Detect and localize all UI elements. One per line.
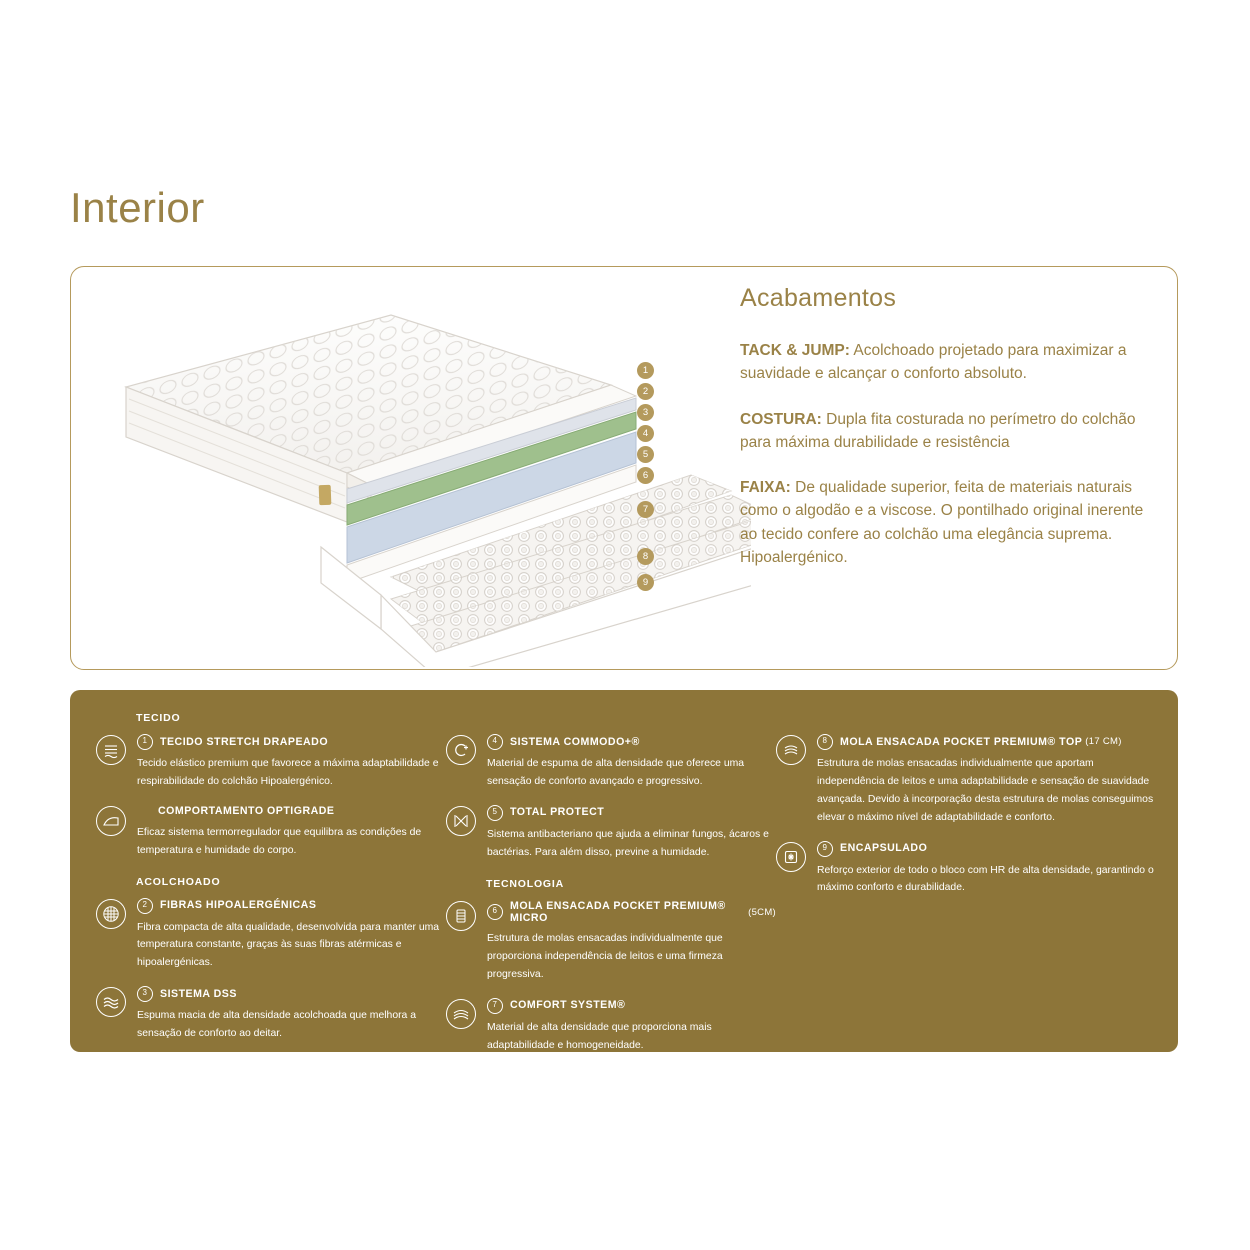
legend-item-commodo: 4 SISTEMA COMMODO+® Material de espuma d…	[446, 734, 776, 791]
legend-title-8: MOLA ENSACADA POCKET PREMIUM® TOP	[840, 736, 1082, 749]
legend-desc-9: Reforço exterior de todo o bloco com HR …	[817, 862, 1158, 898]
legend-item-encapsulado: 9 ENCAPSULADO Reforço exterior de todo o…	[776, 841, 1158, 898]
legend-panel: TECIDO 1 TECIDO STRETCH DRAPEADO Te	[70, 690, 1178, 1052]
legend-desc-6: Estrutura de molas ensacadas individualm…	[487, 930, 776, 984]
commodo-c-icon	[446, 735, 476, 765]
legend-desc-2: Fibra compacta de alta qualidade, desenv…	[137, 919, 446, 973]
legend-item-comfort-system: 7 COMFORT SYSTEM® Material de alta densi…	[446, 998, 776, 1055]
legend-desc-7: Material de alta densidade que proporcio…	[487, 1019, 776, 1055]
pocket-spring-micro-icon	[446, 901, 476, 931]
legend-title-3: SISTEMA DSS	[160, 988, 237, 1001]
legend-title-1: TECIDO STRETCH DRAPEADO	[160, 736, 328, 749]
acabamento-tack-jump: TACK & JUMP: Acolchoado projetado para m…	[740, 339, 1160, 386]
legend-number-2: 2	[137, 898, 153, 914]
legend-item-pocket-top: 8 MOLA ENSACADA POCKET PREMIUM® TOP (17 …	[776, 734, 1158, 827]
pocket-spring-top-icon	[776, 735, 806, 765]
legend-number-9: 9	[817, 841, 833, 857]
legend-title-9: ENCAPSULADO	[840, 842, 927, 855]
comfort-system-icon	[446, 999, 476, 1029]
legend-group-label-tecido: TECIDO	[136, 712, 446, 724]
legend-number-5: 5	[487, 805, 503, 821]
diagram-number-8: 8	[637, 548, 654, 565]
legend-desc-4: Material de espuma de alta densidade que…	[487, 755, 776, 791]
legend-title-6: MOLA ENSACADA POCKET PREMIUM® MICRO	[510, 900, 745, 925]
page-title: Interior	[70, 184, 205, 232]
legend-title-5: TOTAL PROTECT	[510, 806, 604, 819]
acabamento-faixa-label: FAIXA:	[740, 479, 791, 496]
page-root: Interior	[0, 0, 1250, 1250]
legend-group-label-tecnologia: TECNOLOGIA	[486, 878, 776, 890]
legend-item-tecido-stretch: 1 TECIDO STRETCH DRAPEADO Tecido elástic…	[96, 734, 446, 791]
diagram-number-9: 9	[637, 574, 654, 591]
legend-column-1: TECIDO 1 TECIDO STRETCH DRAPEADO Te	[96, 712, 446, 1068]
acabamentos-section: Acabamentos TACK & JUMP: Acolchoado proj…	[740, 284, 1160, 591]
legend-number-1: 1	[137, 734, 153, 750]
waves-icon	[96, 987, 126, 1017]
legend-desc-3: Espuma macia de alta densidade acolchoad…	[137, 1007, 446, 1043]
legend-title-2: FIBRAS HIPOALERGÉNICAS	[160, 899, 316, 912]
total-protect-icon	[446, 806, 476, 836]
legend-number-6: 6	[487, 904, 503, 920]
acabamento-tack-jump-label: TACK & JUMP:	[740, 342, 850, 359]
mattress-illustration: 1 2 3 4 5 6 7 8 9	[91, 277, 751, 667]
legend-number-3: 3	[137, 986, 153, 1002]
legend-title-optigrade: COMPORTAMENTO OPTIGRADE	[158, 805, 335, 818]
acabamento-faixa-text: De qualidade superior, feita de materiai…	[740, 479, 1143, 566]
legend-desc-1: Tecido elástico premium que favorece a m…	[137, 755, 446, 791]
legend-columns: TECIDO 1 TECIDO STRETCH DRAPEADO Te	[96, 712, 1158, 1068]
diagram-number-3: 3	[637, 404, 654, 421]
legend-number-optigrade	[137, 805, 151, 819]
diagram-number-6: 6	[637, 467, 654, 484]
legend-desc-5: Sistema antibacteriano que ajuda a elimi…	[487, 826, 776, 862]
legend-suffix-8: (17 CM)	[1085, 736, 1121, 747]
legend-item-pocket-micro: 6 MOLA ENSACADA POCKET PREMIUM® MICRO (5…	[446, 900, 776, 984]
legend-column-3: 8 MOLA ENSACADA POCKET PREMIUM® TOP (17 …	[776, 712, 1158, 1068]
diagram-number-1: 1	[637, 362, 654, 379]
legend-item-dss: 3 SISTEMA DSS Espuma macia de alta densi…	[96, 986, 446, 1043]
diagram-number-4: 4	[637, 425, 654, 442]
diagram-number-5: 5	[637, 446, 654, 463]
legend-number-7: 7	[487, 998, 503, 1014]
acabamentos-heading: Acabamentos	[740, 284, 1160, 313]
legend-number-4: 4	[487, 734, 503, 750]
legend-group-label-acolchoado: ACOLCHOADO	[136, 876, 446, 888]
legend-desc-8: Estrutura de molas ensacadas individualm…	[817, 755, 1158, 827]
legend-column-2: 4 SISTEMA COMMODO+® Material de espuma d…	[446, 712, 776, 1068]
legend-desc-optigrade: Eficaz sistema termorregulador que equil…	[137, 824, 446, 860]
legend-suffix-6: (5CM)	[748, 907, 776, 918]
legend-title-7: COMFORT SYSTEM®	[510, 999, 625, 1012]
legend-item-total-protect: 5 TOTAL PROTECT Sistema antibacteriano q…	[446, 805, 776, 862]
legend-title-4: SISTEMA COMMODO+®	[510, 736, 640, 749]
fabric-lines-icon	[96, 735, 126, 765]
legend-number-8: 8	[817, 734, 833, 750]
acabamento-costura: COSTURA: Dupla fita costurada no perímet…	[740, 408, 1160, 455]
legend-item-optigrade: COMPORTAMENTO OPTIGRADE Eficaz sistema t…	[96, 805, 446, 860]
diagram-number-7: 7	[637, 501, 654, 518]
legend-item-fibras: 2 FIBRAS HIPOALERGÉNICAS Fibra compacta …	[96, 898, 446, 973]
optigrade-icon	[96, 806, 126, 836]
diagram-number-2: 2	[637, 383, 654, 400]
encapsulado-icon	[776, 842, 806, 872]
acabamento-costura-label: COSTURA:	[740, 411, 822, 428]
acabamento-faixa: FAIXA: De qualidade superior, feita de m…	[740, 476, 1160, 569]
mesh-grid-icon	[96, 899, 126, 929]
